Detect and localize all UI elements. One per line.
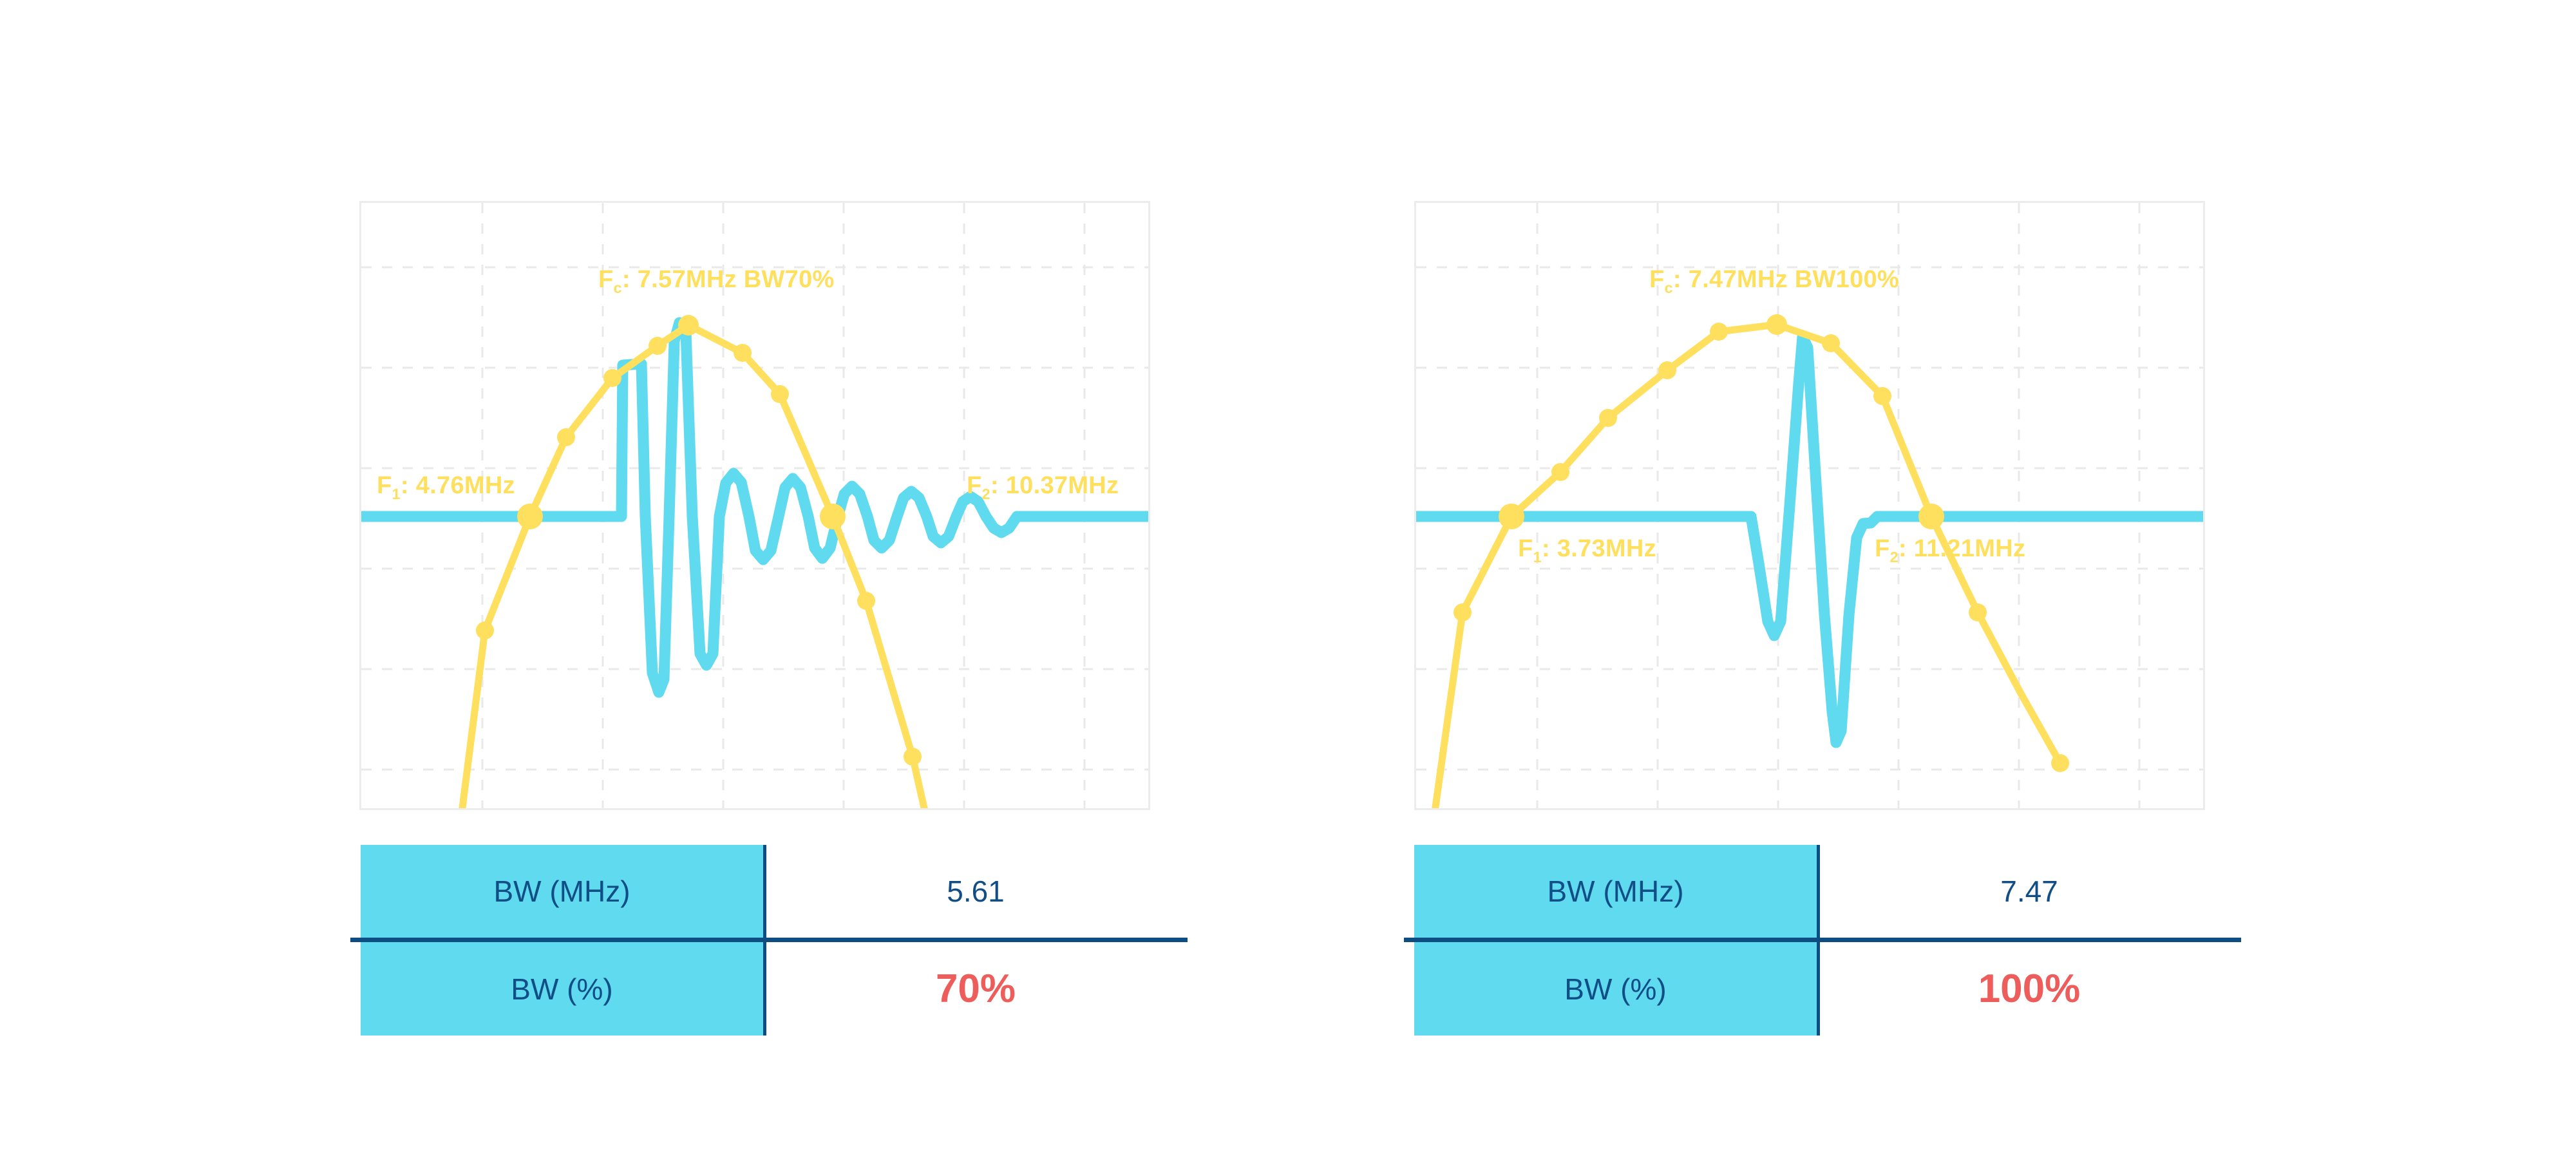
table-row-left-0: BW (MHz) 5.61 [361, 845, 1185, 938]
table-value-bw-mhz-left: 5.61 [947, 874, 1005, 909]
annotation-f2-right: F2: 11.21MHz [1875, 536, 2025, 565]
f1-text-left: : 4.76MHz [401, 472, 515, 499]
f2-prefix-left: F [967, 472, 982, 499]
screenshot-root: Fc: 7.57MHz BW70% F1: 4.76MHz F2: 10.37M… [0, 0, 2576, 1154]
table-header-label-bw-mhz-right: BW (MHz) [1547, 874, 1683, 909]
table-value-bw-mhz-right: 7.47 [2000, 874, 2058, 909]
table-value-cell-bw-mhz-left: 5.61 [766, 845, 1185, 938]
table-divider-left [350, 938, 1188, 942]
table-header-cell-bw-pct-left: BW (%) [361, 942, 766, 1036]
fc-subscript-left: c [614, 279, 622, 296]
f2-subscript-left: 2 [982, 486, 990, 502]
table-header-cell-bw-mhz-right: BW (MHz) [1414, 845, 1820, 938]
annotation-f1-right: F1: 3.73MHz [1518, 536, 1656, 565]
fc-subscript-right: c [1665, 279, 1673, 296]
fc-prefix-left: F [598, 266, 614, 293]
bw-table-left: BW (MHz) 5.61 BW (%) 70% [361, 845, 1185, 1036]
f1-subscript-left: 1 [392, 486, 401, 502]
table-value-bw-pct-right: 100% [1978, 966, 2081, 1012]
table-row-left-1: BW (%) 70% [361, 942, 1185, 1036]
f2-text-left: : 10.37MHz [990, 472, 1119, 499]
table-header-cell-bw-pct-right: BW (%) [1414, 942, 1820, 1036]
fc-text-left: : 7.57MHz BW70% [622, 266, 835, 293]
table-row-right-1: BW (%) 100% [1414, 942, 2239, 1036]
fc-text-right: : 7.47MHz BW100% [1673, 266, 1899, 293]
f1-prefix-left: F [377, 472, 392, 499]
annotation-fc-right: Fc: 7.47MHz BW100% [1649, 267, 1899, 296]
table-row-right-0: BW (MHz) 7.47 [1414, 845, 2239, 938]
table-header-cell-bw-mhz-left: BW (MHz) [361, 845, 766, 938]
annotation-f2-left: F2: 10.37MHz [967, 473, 1119, 502]
table-header-label-bw-pct-left: BW (%) [511, 972, 612, 1007]
f2-prefix-right: F [1875, 535, 1890, 562]
chart-right: Fc: 7.47MHz BW100% F1: 3.73MHz F2: 11.21… [1414, 201, 2205, 810]
table-value-cell-bw-pct-right: 100% [1820, 942, 2239, 1036]
table-divider-right [1404, 938, 2241, 942]
table-header-label-bw-mhz-left: BW (MHz) [493, 874, 630, 909]
table-header-label-bw-pct-right: BW (%) [1564, 972, 1666, 1007]
f2-subscript-right: 2 [1890, 549, 1899, 565]
table-value-bw-pct-left: 70% [936, 966, 1016, 1012]
annotation-fc-left: Fc: 7.57MHz BW70% [598, 267, 835, 296]
f1-prefix-right: F [1518, 535, 1533, 562]
table-value-cell-bw-pct-left: 70% [766, 942, 1185, 1036]
f1-text-right: : 3.73MHz [1542, 535, 1656, 562]
table-value-cell-bw-mhz-right: 7.47 [1820, 845, 2239, 938]
f1-subscript-right: 1 [1533, 549, 1542, 565]
f2-text-right: : 11.21MHz [1899, 535, 2025, 562]
bw-table-right: BW (MHz) 7.47 BW (%) 100% [1414, 845, 2239, 1036]
spectrum-curve-right [1429, 325, 2060, 808]
annotation-f1-left: F1: 4.76MHz [377, 473, 515, 502]
fc-prefix-right: F [1649, 266, 1665, 293]
chart-left: Fc: 7.57MHz BW70% F1: 4.76MHz F2: 10.37M… [359, 201, 1150, 810]
